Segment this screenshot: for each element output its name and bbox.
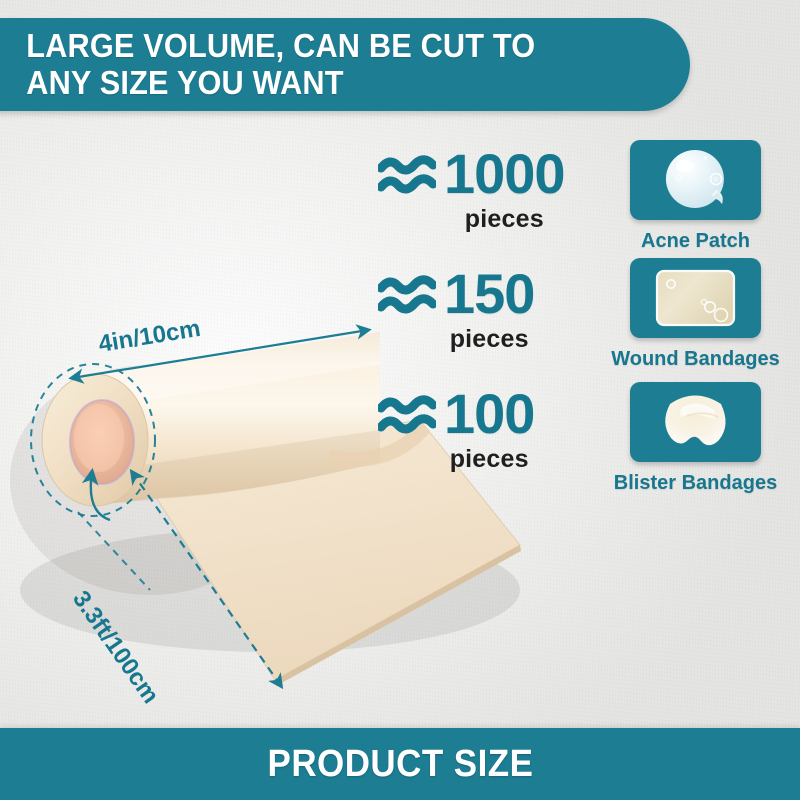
product-card [630,382,761,462]
stat-number: 150 [444,268,534,320]
footer-title: PRODUCT SIZE [267,743,533,786]
product-label: Wound Bandages [608,348,783,371]
stat-unit: pieces [444,445,534,474]
approximately-icon [378,154,436,198]
stat-number: 1000 [444,148,565,200]
stat-unit: pieces [444,205,565,234]
product-item-acne-patch: Acne Patch [608,140,783,253]
product-label: Blister Bandages [608,472,783,495]
product-card [630,258,761,338]
acne-patch-icon [630,140,761,220]
wound-bandage-icon [630,258,761,338]
product-item-blister-bandages: Blister Bandages [608,382,783,495]
approximately-icon [378,274,436,318]
stat-number: 100 [444,388,534,440]
stat-row-1: 1000 pieces [378,148,618,234]
stat-row-3: 100 pieces [378,388,618,474]
stat-unit: pieces [444,325,534,354]
page-title: LARGE VOLUME, CAN BE CUT TO ANY SIZE YOU… [0,28,554,102]
product-item-wound-bandages: Wound Bandages [608,258,783,371]
blister-bandage-icon [630,382,761,462]
stat-row-2: 150 pieces [378,268,618,354]
dimension-width-label: 4in/10cm [97,315,203,358]
header-banner: LARGE VOLUME, CAN BE CUT TO ANY SIZE YOU… [0,18,690,111]
product-card [630,140,761,220]
footer-banner: PRODUCT SIZE [0,728,800,800]
product-label: Acne Patch [608,230,783,253]
infographic-page: 4in/10cm 3.3ft/100cm LARGE VOLUME, CAN B… [0,0,800,800]
approximately-icon [378,394,436,438]
